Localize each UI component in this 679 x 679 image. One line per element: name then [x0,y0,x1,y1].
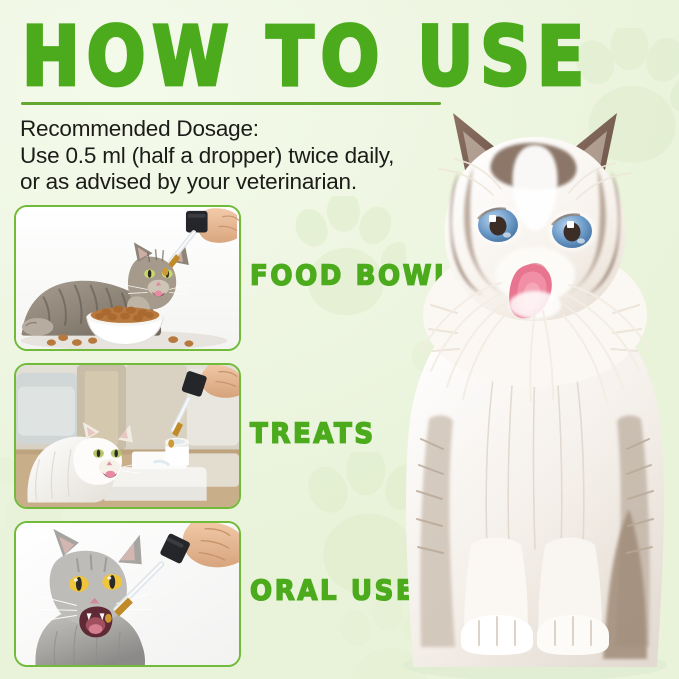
oral-use-photo [16,523,239,666]
method-panel-food-bowl[interactable] [14,205,241,351]
caption-treats: TREATS [250,418,376,450]
hero-ragdoll-cat-photo [385,79,679,679]
food-bowl-photo [16,207,239,350]
method-panel-oral-use[interactable] [14,521,241,667]
title-divider [21,102,441,105]
method-panel-treats[interactable] [14,363,241,509]
treats-photo [16,365,239,508]
how-to-use-infographic: HOW TO USE Recommended Dosage: Use 0.5 m… [0,0,679,679]
